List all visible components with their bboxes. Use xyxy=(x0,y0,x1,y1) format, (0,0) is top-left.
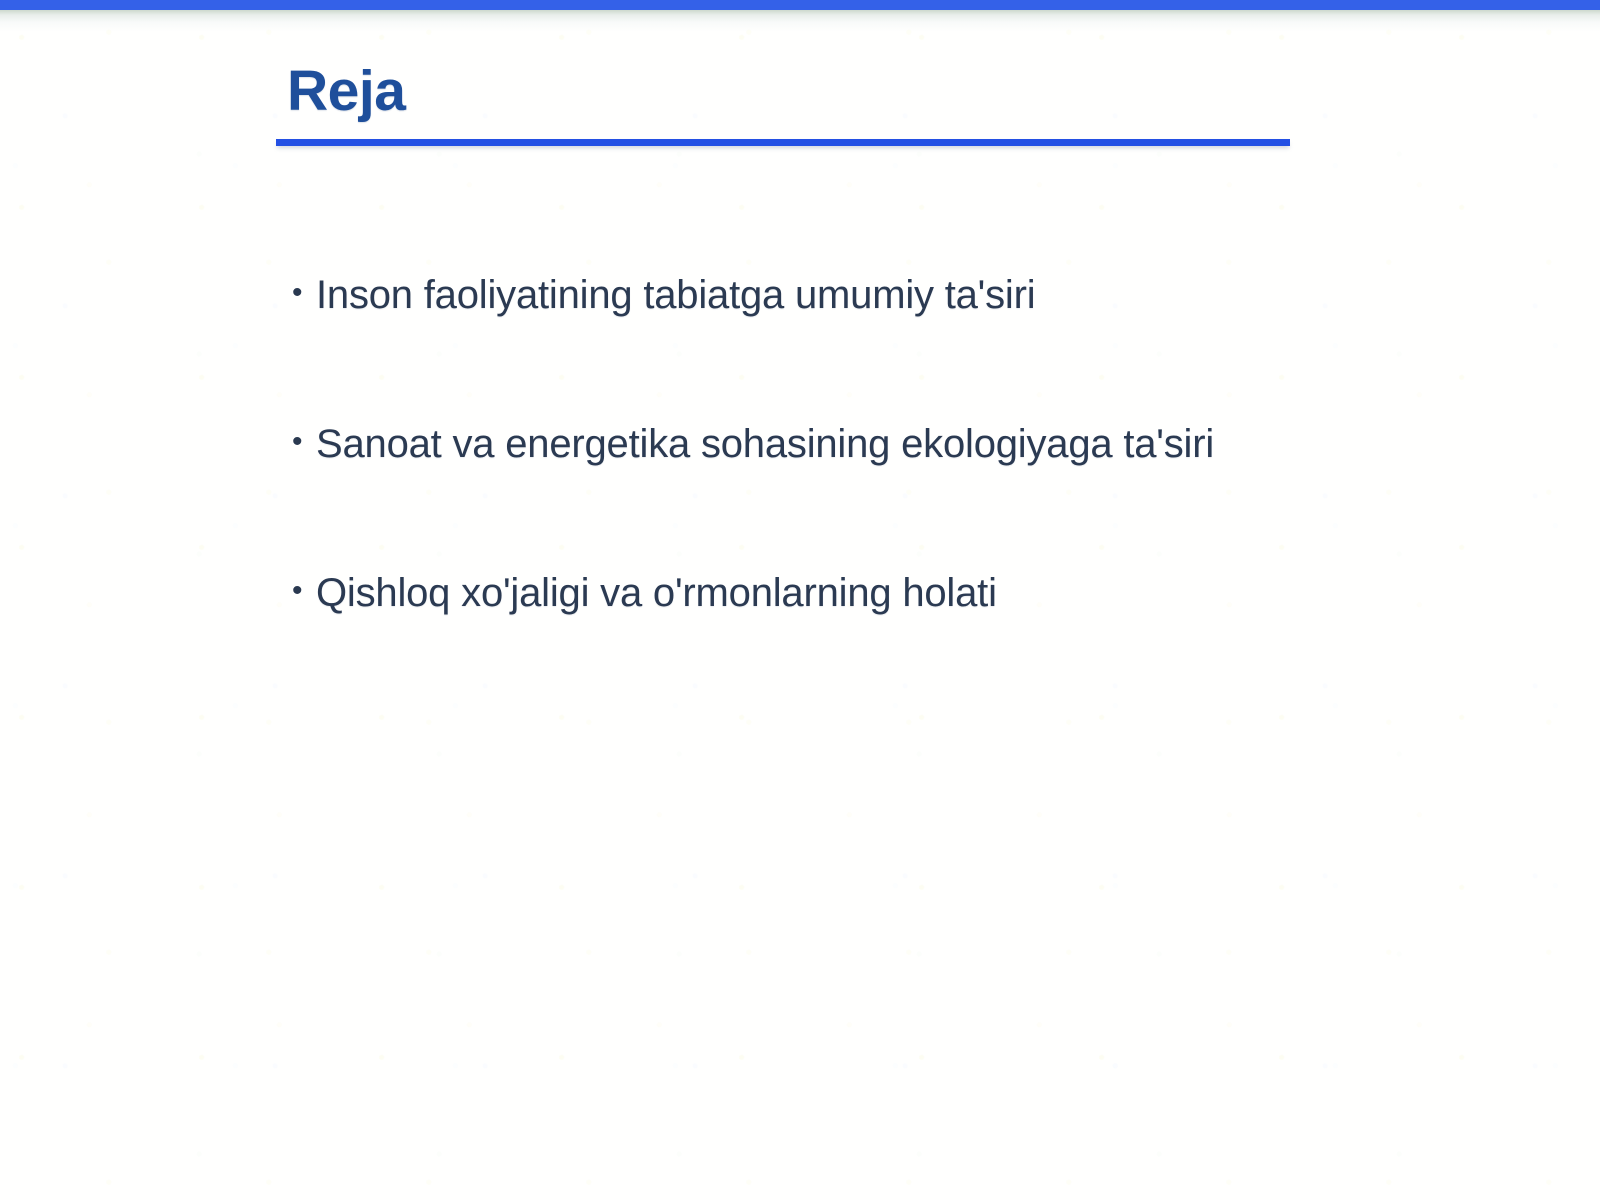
title-block: Reja xyxy=(276,62,1292,146)
bullet-text: Sanoat va energetika sohasining ekologiy… xyxy=(316,421,1214,467)
list-item: • Inson faoliyatining tabiatga umumiy ta… xyxy=(292,272,1214,421)
presentation-slide: Reja • Inson faoliyatining tabiatga umum… xyxy=(0,0,1600,1200)
list-item: • Qishloq xo'jaligi va o'rmonlarning hol… xyxy=(292,570,1214,719)
list-item: • Sanoat va energetika sohasining ekolog… xyxy=(292,421,1214,570)
bullet-dot-icon: • xyxy=(292,576,316,606)
title-divider-rule xyxy=(276,139,1290,146)
top-accent-bar xyxy=(0,0,1600,10)
top-accent-bar-shadow xyxy=(0,10,1600,32)
bullet-text: Inson faoliyatining tabiatga umumiy ta's… xyxy=(316,272,1035,318)
page-title: Reja xyxy=(287,62,1292,122)
bullet-text: Qishloq xo'jaligi va o'rmonlarning holat… xyxy=(316,570,997,616)
bullet-dot-icon: • xyxy=(292,278,316,308)
agenda-bullet-list: • Inson faoliyatining tabiatga umumiy ta… xyxy=(292,272,1214,719)
bullet-dot-icon: • xyxy=(292,427,316,457)
